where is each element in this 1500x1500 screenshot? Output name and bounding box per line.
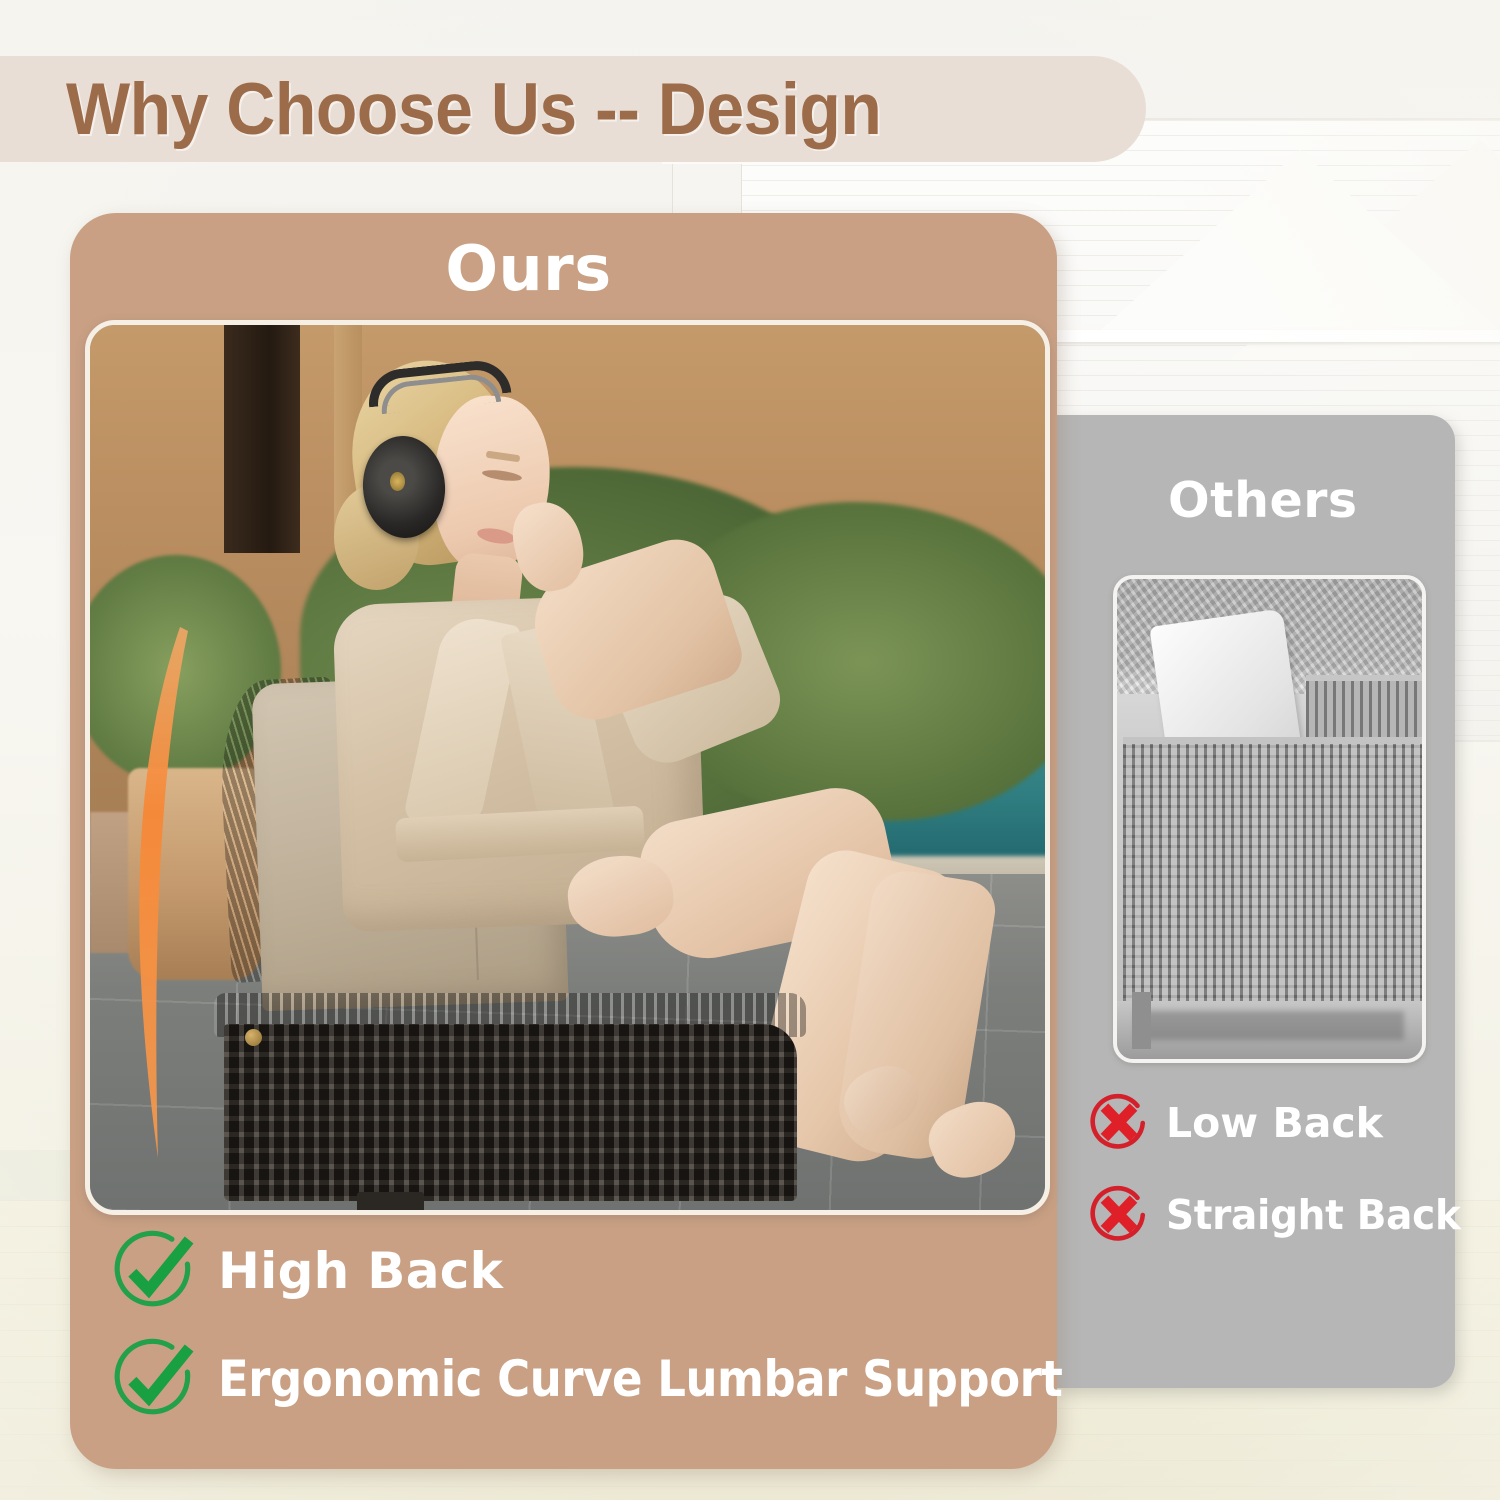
others-wicker-sofa — [1123, 737, 1422, 1018]
others-feature-row: Low Back — [1086, 1090, 1486, 1156]
infographic-canvas: Why Choose Us -- Design Others Low Back — [0, 0, 1500, 1500]
cross-circle-icon — [1086, 1182, 1152, 1248]
ours-feature-label: Ergonomic Curve Lumbar Support — [218, 1350, 1062, 1408]
others-sofa-leg — [1132, 992, 1150, 1050]
ours-feature-list: High Back Ergonomic Curve Lumbar Support — [110, 1228, 1010, 1444]
others-feature-list: Low Back Straight Back — [1086, 1090, 1486, 1274]
others-sofa-shadow — [1135, 1011, 1403, 1040]
title-banner: Why Choose Us -- Design — [0, 56, 1146, 162]
photo-dark-doorway — [224, 325, 300, 553]
chair-foot — [357, 1192, 424, 1215]
cross-circle-icon — [1086, 1090, 1152, 1156]
ours-photo — [85, 320, 1050, 1215]
ours-title: Ours — [0, 232, 1057, 305]
others-feature-label: Low Back — [1166, 1099, 1383, 1147]
check-circle-icon — [110, 1336, 196, 1422]
others-feature-row: Straight Back — [1086, 1182, 1486, 1248]
ours-feature-row: High Back — [110, 1228, 1010, 1314]
check-circle-icon — [110, 1228, 196, 1314]
others-title: Others — [1168, 472, 1468, 529]
robe-belt-knot — [520, 803, 587, 865]
others-photo — [1113, 575, 1426, 1063]
others-feature-label: Straight Back — [1166, 1191, 1461, 1239]
ours-feature-row: Ergonomic Curve Lumbar Support — [110, 1336, 1010, 1422]
page-title: Why Choose Us -- Design — [66, 73, 881, 146]
ours-feature-label: High Back — [218, 1242, 503, 1300]
chair-brass-bolt — [245, 1029, 262, 1046]
chair-wicker-body — [224, 1024, 797, 1201]
